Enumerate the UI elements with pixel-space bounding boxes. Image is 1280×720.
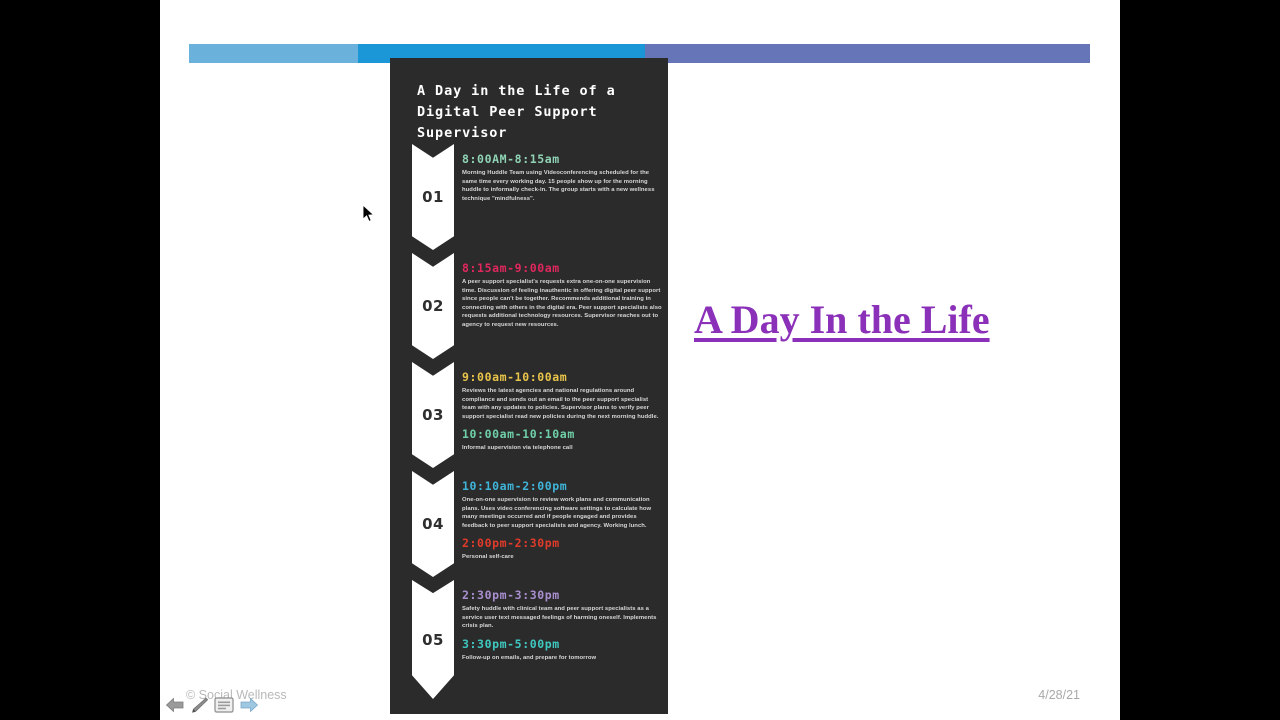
timeline-entry-time: 10:10am-2:00pm (462, 479, 662, 493)
previous-slide-icon[interactable] (165, 697, 185, 718)
timeline-entry-body: Morning Huddle Team using Videoconferenc… (462, 169, 662, 203)
pen-tool-icon[interactable] (189, 697, 209, 718)
timeline-entry-04: 10:10am-2:00pmOne-on-one supervision to … (462, 479, 662, 562)
color-bar-segment-1 (189, 44, 358, 63)
timeline-step-number: 03 (422, 406, 444, 424)
timeline-entry-time: 8:00AM-8:15am (462, 152, 662, 166)
timeline-step-number: 01 (422, 188, 444, 206)
timeline-entry-02: 8:15am-9:00amA peer support specialist's… (462, 261, 662, 330)
timeline-entry-time-secondary: 2:00pm-2:30pm (462, 536, 662, 550)
timeline-entry-time-secondary: 10:00am-10:10am (462, 427, 662, 441)
timeline-entry-body-secondary: Informal supervision via telephone call (462, 444, 662, 453)
timeline-entry-01: 8:00AM-8:15amMorning Huddle Team using V… (462, 152, 662, 203)
timeline-entry-body: Safety huddle with clinical team and pee… (462, 605, 662, 631)
presentation-controls[interactable] (165, 696, 259, 719)
next-slide-icon[interactable] (239, 697, 259, 718)
timeline-chevron-03: 03 (412, 362, 454, 468)
timeline-step-number: 04 (422, 515, 444, 533)
timeline-entry-time-secondary: 3:30pm-5:00pm (462, 637, 662, 651)
timeline-step-number: 05 (422, 631, 444, 649)
mouse-cursor (362, 204, 375, 228)
presentation-stage: A Day in the Life of a Digital Peer Supp… (0, 0, 1280, 720)
footer-date: 4/28/21 (1038, 688, 1080, 702)
page-title: A Day In the Life (694, 296, 990, 343)
timeline-entry-time: 9:00am-10:00am (462, 370, 662, 384)
timeline-chevron-05: 05 (412, 580, 454, 699)
timeline-entry-03: 9:00am-10:00amReviews the latest agencie… (462, 370, 662, 453)
timeline-chevron-01: 01 (412, 144, 454, 250)
timeline-entry-body: A peer support specialist's requests ext… (462, 278, 662, 330)
timeline-chevron-04: 04 (412, 471, 454, 577)
slide-canvas[interactable]: A Day in the Life of a Digital Peer Supp… (160, 0, 1120, 720)
timeline-chevron-02: 02 (412, 253, 454, 359)
timeline-entry-body-secondary: Follow-up on emails, and prepare for tom… (462, 654, 662, 663)
infographic-title: A Day in the Life of a Digital Peer Supp… (417, 81, 652, 144)
timeline-entry-body-secondary: Personal self-care (462, 553, 662, 562)
slide-menu-icon[interactable] (213, 696, 235, 719)
timeline-infographic-panel: A Day in the Life of a Digital Peer Supp… (390, 58, 668, 714)
timeline-entry-body: One-on-one supervision to review work pl… (462, 496, 662, 530)
chevron-rail: 0102030405 (412, 144, 454, 699)
color-bar-segment-3 (645, 44, 1090, 63)
timeline-entry-time: 2:30pm-3:30pm (462, 588, 662, 602)
timeline-step-number: 02 (422, 297, 444, 315)
timeline-entry-05: 2:30pm-3:30pmSafety huddle with clinical… (462, 588, 662, 662)
timeline-entry-time: 8:15am-9:00am (462, 261, 662, 275)
timeline-entry-body: Reviews the latest agencies and national… (462, 387, 662, 421)
